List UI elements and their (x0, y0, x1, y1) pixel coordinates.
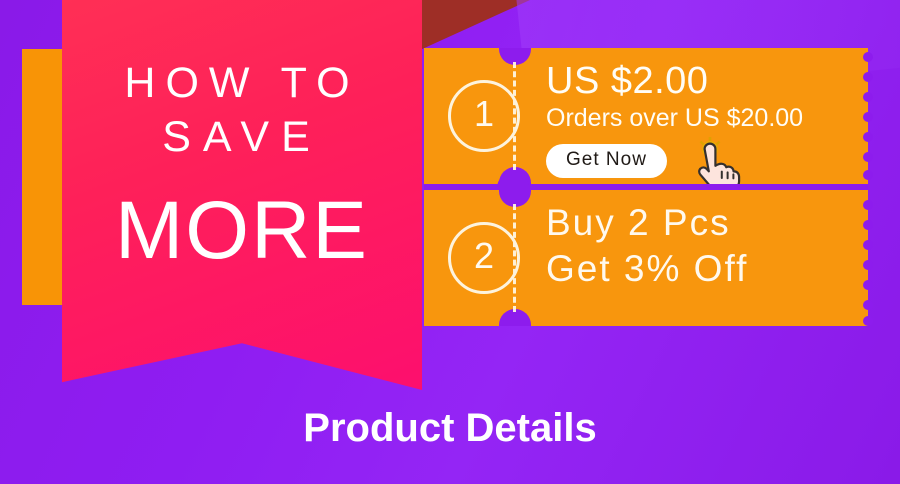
ticket-2-number-badge: 2 (448, 222, 520, 294)
ticket-2-content: Buy 2 Pcs Get 3% Off (546, 190, 848, 326)
ticket-1-headline: US $2.00 (546, 62, 708, 102)
ticket-1-number-badge: 1 (448, 80, 520, 152)
ticket-1-subtext: Orders over US $20.00 (546, 105, 803, 133)
ribbon-line-2: SAVE (62, 116, 422, 159)
ticket-2-perforation-edge (859, 190, 868, 326)
ticket-1-content: US $2.00 Orders over US $20.00 Get Now (546, 48, 848, 184)
ticket-2-line-1: Buy 2 Pcs (546, 204, 731, 241)
ticket-2-line-2: Get 3% Off (546, 250, 748, 287)
ribbon-shadow-triangle (420, 0, 530, 50)
ribbon-line-1: HOW TO (62, 62, 422, 105)
ribbon-line-3: MORE (62, 190, 422, 272)
pointing-hand-cursor-icon[interactable] (690, 134, 744, 190)
coupon-ticket-1[interactable]: 1 US $2.00 Orders over US $20.00 Get Now (424, 48, 868, 184)
promo-banner: HOW TO SAVE MORE 1 US $2.00 Orders over … (0, 0, 900, 484)
get-now-button[interactable]: Get Now (546, 144, 667, 178)
ticket-1-perforation-edge (859, 48, 868, 184)
ribbon-heading: HOW TO SAVE MORE (62, 0, 422, 390)
coupon-ticket-2[interactable]: 2 Buy 2 Pcs Get 3% Off (424, 190, 868, 326)
footer-product-details-title: Product Details (0, 406, 900, 451)
